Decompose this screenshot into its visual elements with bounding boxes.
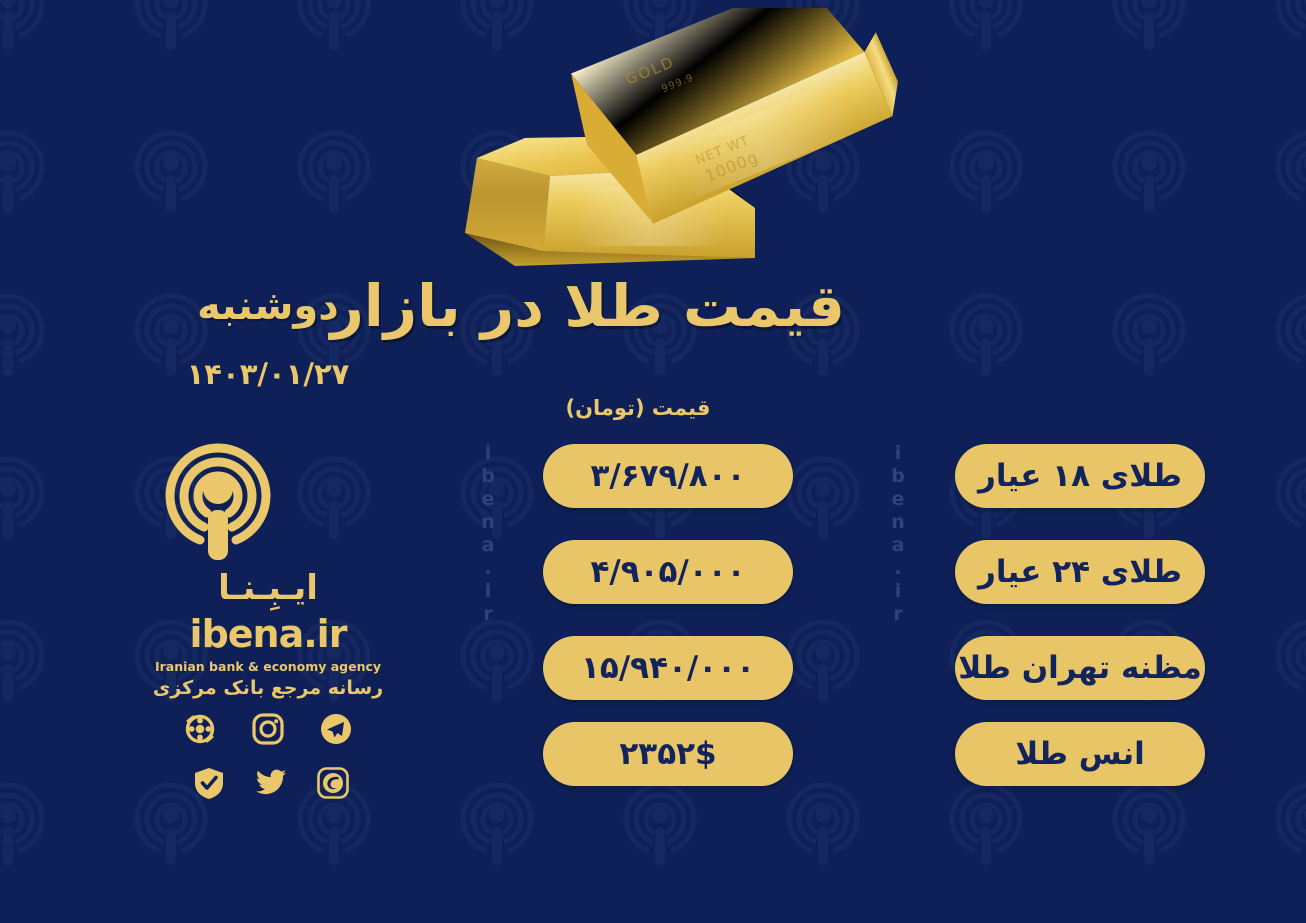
bale-icon[interactable] (192, 766, 220, 794)
date-label: ۱۴۰۳/۰۱/۲۷ (138, 357, 398, 391)
table-row[interactable]: ۲۳۵۲$ (543, 722, 793, 786)
watermark-right: ibena.ir (888, 442, 907, 626)
social-row-top (158, 712, 378, 746)
table-row[interactable]: ۴/۹۰۵/۰۰۰ (543, 540, 793, 604)
twitter-icon[interactable] (254, 766, 282, 794)
page-title: قیمت طلا در بازار (455, 272, 845, 340)
weekday-label: دوشنبه (138, 283, 398, 329)
price-value: ۲۳۵۲$ (619, 736, 716, 772)
brand-tagline-en: Iranian bank & economy agency (138, 659, 398, 674)
brand-tagline-fa: رسانه مرجع بانک مرکزی (138, 677, 398, 699)
price-column-header: قیمت (تومان) (513, 396, 763, 420)
price-value: ۳/۶۷۹/۸۰۰ (590, 458, 745, 494)
eitaa-icon[interactable] (316, 766, 344, 794)
gold-price-poster: GOLD 999.9 NET WT 1000g قیمت طلا در بازا… (0, 0, 1306, 923)
social-links (158, 712, 378, 794)
brand-name-en[interactable]: ibena.ir (138, 612, 398, 656)
price-value: ۴/۹۰۵/۰۰۰ (590, 554, 745, 590)
table-row[interactable]: مظنه تهران طلا (955, 636, 1205, 700)
social-row-bottom (158, 766, 378, 794)
row-label: طلای ۱۸ عیار (978, 458, 1182, 494)
row-label: انس طلا (1015, 736, 1145, 772)
table-row[interactable]: طلای ۱۸ عیار (955, 444, 1205, 508)
telegram-icon[interactable] (319, 712, 353, 746)
ibena-broadcast-logo-icon (148, 428, 288, 578)
table-row[interactable]: ۱۵/۹۴۰/۰۰۰ (543, 636, 793, 700)
table-row[interactable]: انس طلا (955, 722, 1205, 786)
gold-bars-illustration: GOLD 999.9 NET WT 1000g (455, 8, 925, 293)
row-label: طلای ۲۴ عیار (978, 554, 1182, 590)
aparat-icon[interactable] (183, 712, 217, 746)
table-row[interactable]: ۳/۶۷۹/۸۰۰ (543, 444, 793, 508)
watermark-left: ibena.ir (478, 442, 497, 626)
table-row[interactable]: طلای ۲۴ عیار (955, 540, 1205, 604)
brand-name-fa: ایـبِـنـا (138, 568, 398, 608)
price-value: ۱۵/۹۴۰/۰۰۰ (581, 650, 755, 686)
instagram-icon[interactable] (251, 712, 285, 746)
row-label: مظنه تهران طلا (958, 650, 1202, 686)
